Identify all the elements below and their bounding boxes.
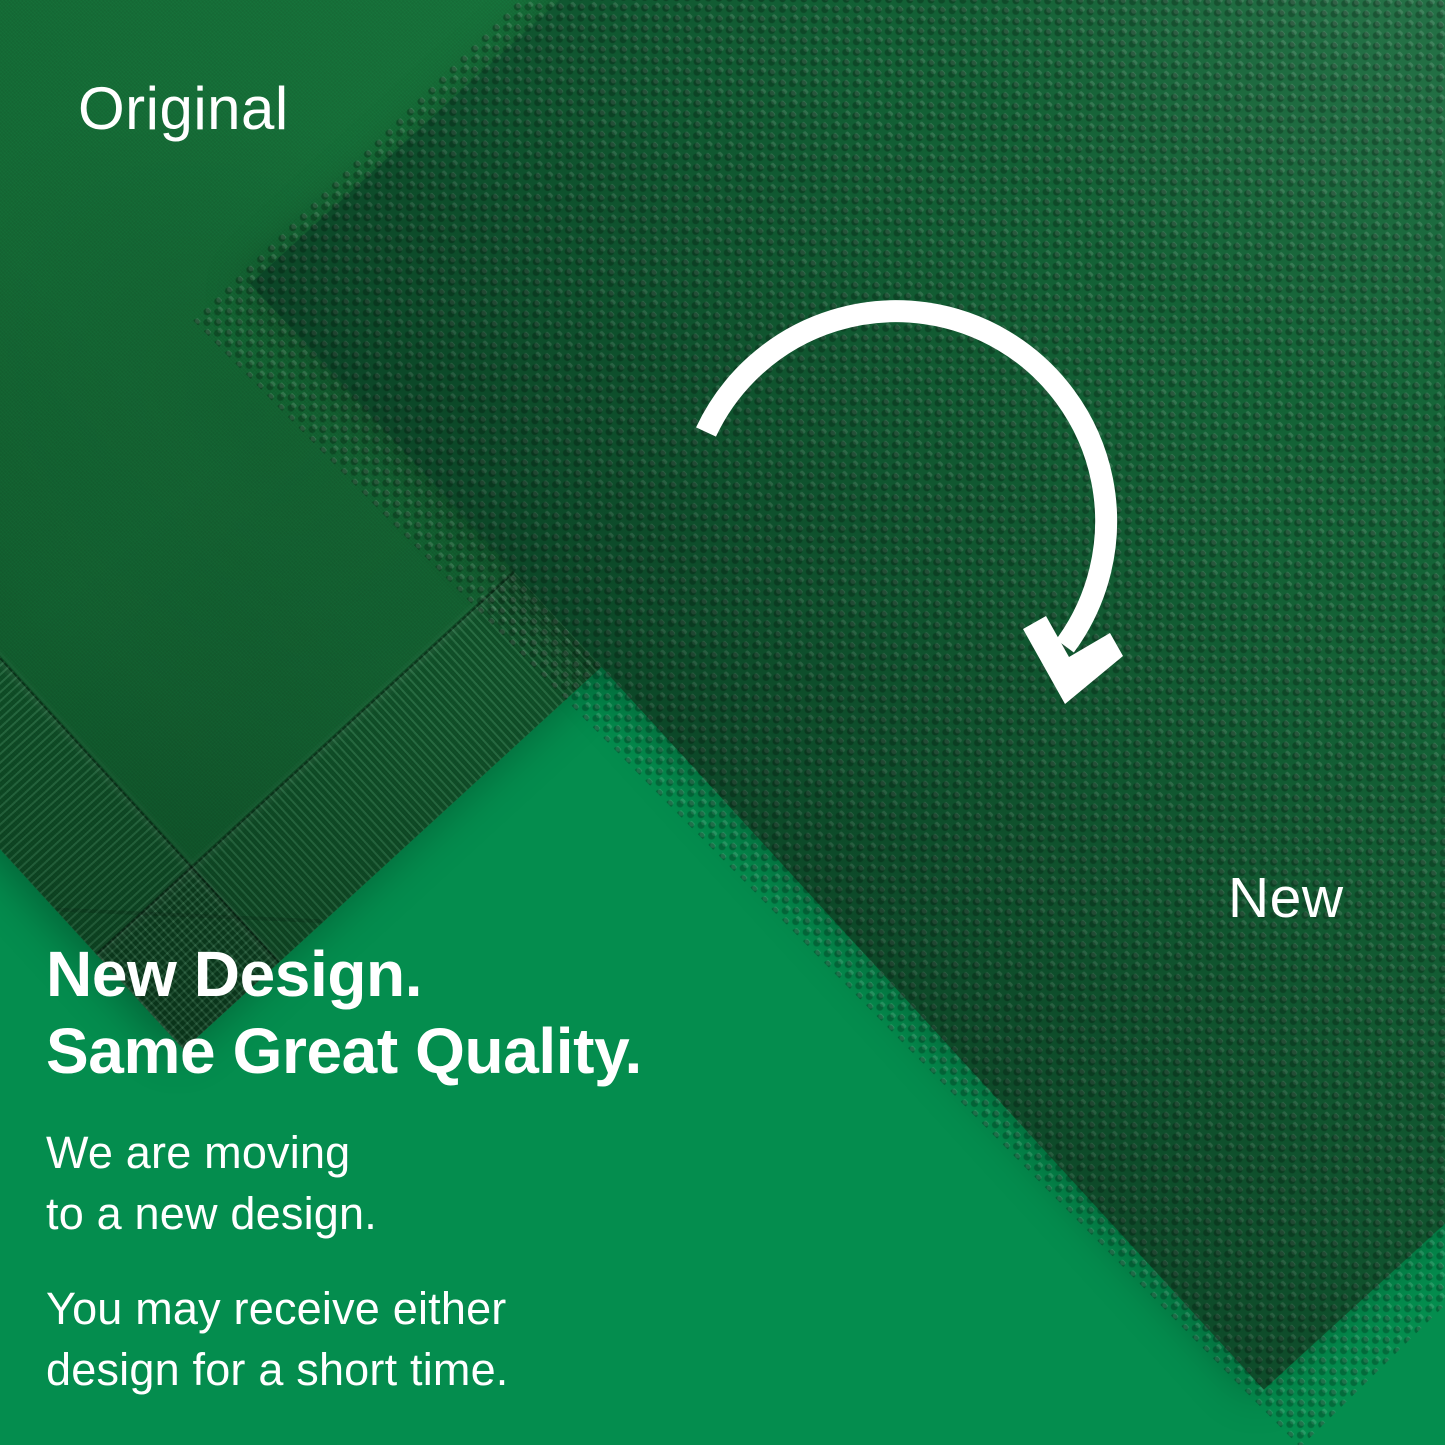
headline-line-2: Same Great Quality. [46,1013,736,1090]
body-paragraph-1-line-2: to a new design. [46,1183,736,1244]
headline: New Design. Same Great Quality. [46,936,736,1090]
headline-line-1: New Design. [46,936,736,1013]
label-new: New [1228,870,1344,927]
body-paragraph-2: You may receive either design for a shor… [46,1278,736,1400]
body-paragraph-1-line-1: We are moving [46,1122,736,1183]
promo-image-canvas: Original New New Design. Same Great Qual… [0,0,1445,1445]
label-original: Original [78,79,289,139]
body-paragraph-2-line-2: design for a short time. [46,1339,736,1400]
body-paragraph-1: We are moving to a new design. [46,1122,736,1244]
copy-block: New Design. Same Great Quality. We are m… [46,936,736,1400]
body-paragraph-2-line-1: You may receive either [46,1278,736,1339]
